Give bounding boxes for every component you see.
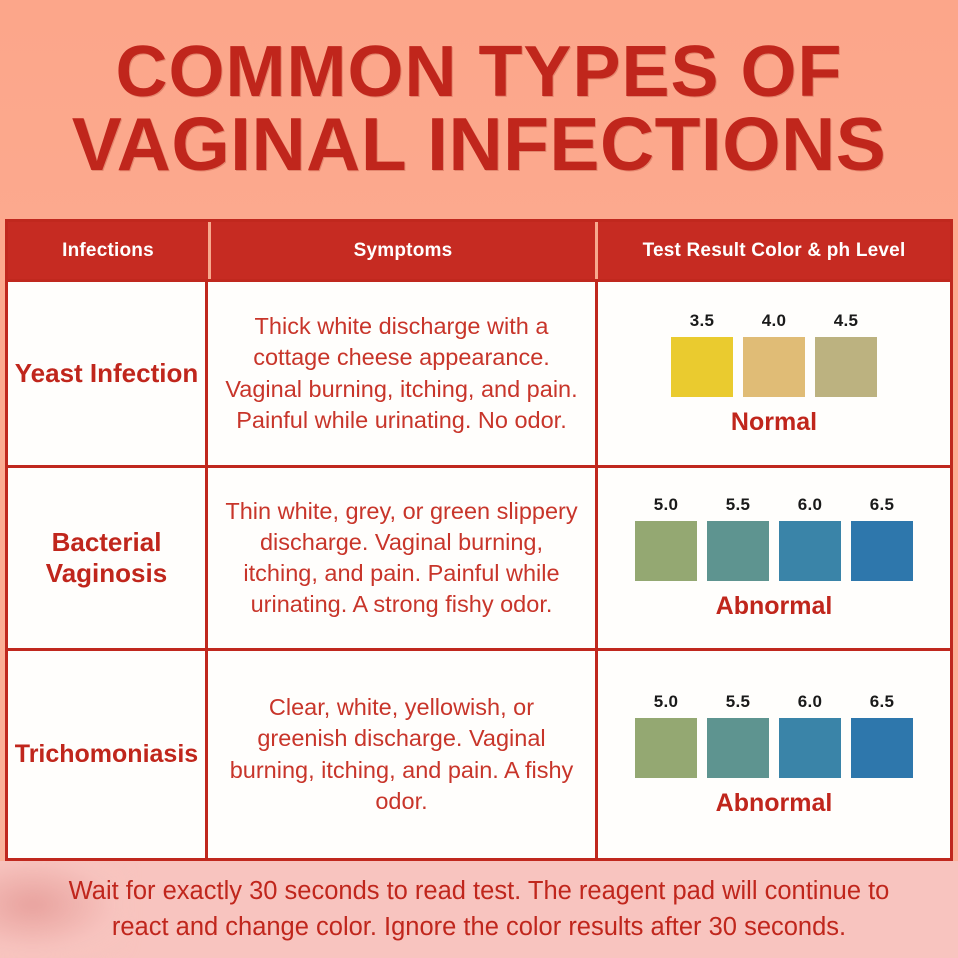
ph-color-chip [635,718,697,778]
ph-color-chip [851,718,913,778]
column-header-infections: Infections [8,222,208,279]
infection-name-cell: Bacterial Vaginosis [8,468,208,648]
ph-value-label: 5.5 [726,495,751,515]
symptoms-text: Thick white discharge with a cottage che… [222,311,581,435]
ph-value-label: 4.5 [834,311,859,331]
poster-title: COMMON TYPES OF VAGINAL INFECTIONS [0,0,958,218]
test-result-cell: 3.5 4.0 4.5 Normal [598,282,950,465]
ph-swatch-row: 5.0 5.5 6.0 6.5 [630,692,918,778]
ph-swatch: 6.5 [851,692,913,778]
ph-color-chip [815,337,877,397]
ph-color-chip [779,521,841,581]
ph-value-label: 6.0 [798,495,823,515]
table-header-row: Infections Symptoms Test Result Color & … [8,222,950,282]
title-line-2: VAGINAL INFECTIONS [72,108,887,181]
table-row: Yeast Infection Thick white discharge wi… [8,282,950,468]
ph-color-chip [635,521,697,581]
title-line-1: COMMON TYPES OF [115,38,842,108]
ph-color-chip [707,718,769,778]
ph-value-label: 3.5 [690,311,715,331]
ph-value-label: 5.5 [726,692,751,712]
column-header-test-result: Test Result Color & ph Level [598,222,950,279]
table-row: Bacterial Vaginosis Thin white, grey, or… [8,468,950,651]
ph-swatch-row: 3.5 4.0 4.5 [666,311,882,397]
ph-swatch: 5.0 [635,692,697,778]
infection-name: Bacterial Vaginosis [14,527,199,588]
ph-value-label: 6.5 [870,495,895,515]
ph-swatch: 6.0 [779,692,841,778]
footer-note-bar: Wait for exactly 30 seconds to read test… [0,861,958,958]
ph-color-chip [743,337,805,397]
ph-swatch: 4.5 [815,311,877,397]
ph-swatch: 5.0 [635,495,697,581]
footer-note-text: Wait for exactly 30 seconds to read test… [39,874,919,944]
result-verdict: Abnormal [716,789,833,818]
infographic-poster: COMMON TYPES OF VAGINAL INFECTIONS Infec… [0,0,958,958]
result-verdict: Abnormal [716,592,833,621]
symptoms-text: Thin white, grey, or green slippery disc… [222,496,581,620]
test-result-cell: 5.0 5.5 6.0 6.5 [598,468,950,648]
symptoms-text: Clear, white, yellowish, or greenish dis… [222,692,581,816]
test-result-cell: 5.0 5.5 6.0 6.5 [598,651,950,858]
ph-color-chip [671,337,733,397]
ph-swatch-row: 5.0 5.5 6.0 6.5 [630,495,918,581]
infection-name: Trichomoniasis [15,740,198,770]
ph-value-label: 5.0 [654,495,679,515]
ph-swatch: 3.5 [671,311,733,397]
ph-color-strip: 3.5 4.0 4.5 Normal [666,311,882,437]
symptoms-cell: Thick white discharge with a cottage che… [208,282,598,465]
infections-table: Infections Symptoms Test Result Color & … [5,219,953,861]
ph-color-chip [851,521,913,581]
ph-swatch: 5.5 [707,495,769,581]
result-verdict: Normal [731,408,817,437]
infection-name: Yeast Infection [15,358,199,389]
ph-color-chip [707,521,769,581]
ph-swatch: 6.0 [779,495,841,581]
ph-value-label: 6.5 [870,692,895,712]
ph-color-chip [779,718,841,778]
table-row: Trichomoniasis Clear, white, yellowish, … [8,651,950,858]
infection-name-cell: Yeast Infection [8,282,208,465]
ph-swatch: 4.0 [743,311,805,397]
ph-value-label: 6.0 [798,692,823,712]
infection-name-cell: Trichomoniasis [8,651,208,858]
ph-swatch: 6.5 [851,495,913,581]
column-header-symptoms: Symptoms [208,222,598,279]
ph-swatch: 5.5 [707,692,769,778]
symptoms-cell: Clear, white, yellowish, or greenish dis… [208,651,598,858]
symptoms-cell: Thin white, grey, or green slippery disc… [208,468,598,648]
ph-color-strip: 5.0 5.5 6.0 6.5 [630,692,918,818]
ph-color-strip: 5.0 5.5 6.0 6.5 [630,495,918,621]
ph-value-label: 4.0 [762,311,787,331]
ph-value-label: 5.0 [654,692,679,712]
